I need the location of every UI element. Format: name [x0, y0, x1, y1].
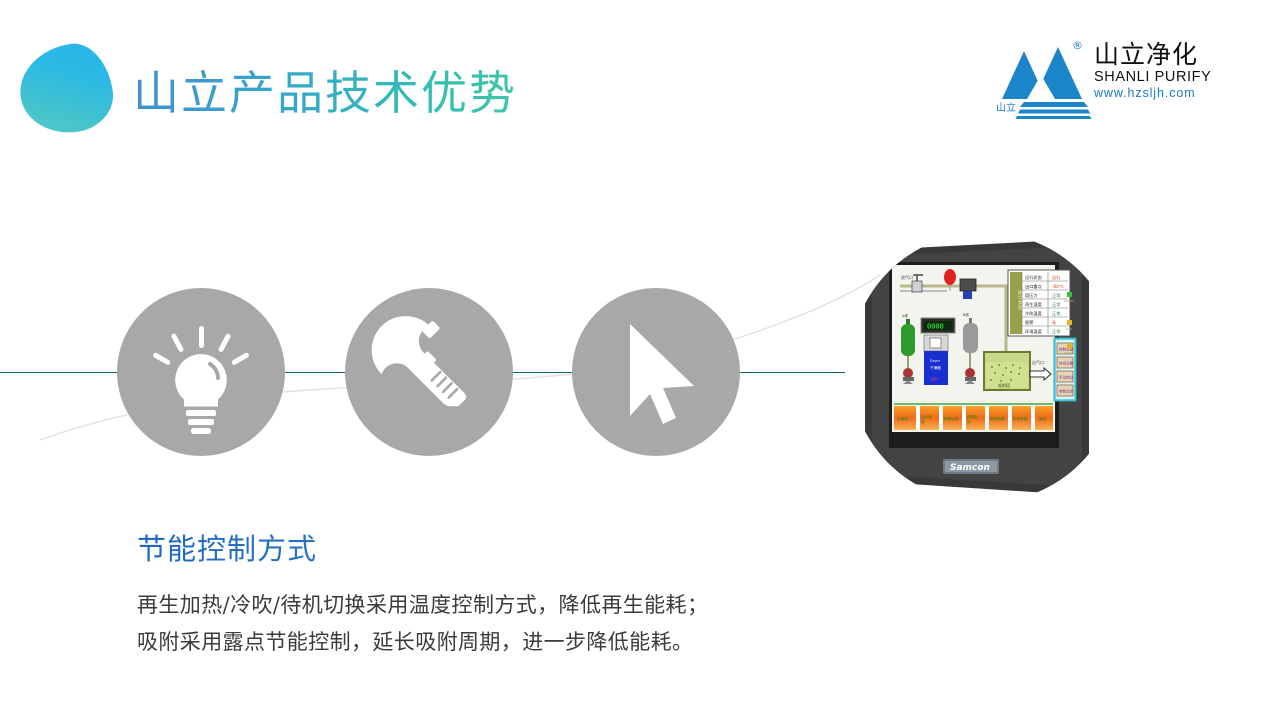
hmi-device-illustration: 进气口 运行状态 运行状态运行: [851, 234, 1119, 502]
svg-text:环境温度: 环境温度: [1025, 328, 1043, 335]
svg-text:参数设定: 参数设定: [1059, 389, 1074, 394]
section-heading: 节能控制方式: [137, 530, 937, 568]
feature-icon-cursor[interactable]: [572, 288, 740, 456]
svg-text:干燥器: 干燥器: [930, 365, 941, 370]
svg-text:进气口: 进气口: [901, 274, 913, 280]
svg-text:冷吹温度: 冷吹温度: [1025, 310, 1043, 317]
brand-website: www.hzsljh.com: [1094, 86, 1224, 101]
wrench-screwdriver-tools-icon: [345, 288, 513, 456]
svg-text:正常: 正常: [1052, 292, 1060, 299]
svg-text:手动启动: 手动启动: [1059, 375, 1074, 380]
svg-text:报警: 报警: [1025, 319, 1034, 326]
svg-text:主画面: 主画面: [897, 416, 908, 421]
feature-icon-tools[interactable]: [345, 288, 513, 456]
svg-text:趋势曲: 趋势曲: [967, 414, 978, 419]
body-line: 吸附采用露点节能控制，延长吸附周期，进一步降低能耗。: [137, 624, 937, 661]
svg-text:运行: 运行: [1052, 274, 1060, 281]
svg-text:Dryer: Dryer: [930, 359, 941, 363]
svg-text:数: 数: [921, 419, 925, 424]
hmi-control-panel-photo: 进气口 运行状态 运行状态运行: [849, 232, 1120, 503]
svg-text:吸附塔: 吸附塔: [998, 382, 1010, 388]
svg-text:出口露点: 出口露点: [1025, 283, 1042, 290]
svg-text:塔压力: 塔压力: [1025, 292, 1038, 299]
svg-text:POWER: POWER: [1064, 299, 1074, 303]
svg-text:再生温度: 再生温度: [1025, 301, 1043, 308]
brand-name-cn: 山立净化: [1094, 41, 1224, 69]
svg-text:运行状态: 运行状态: [1025, 274, 1042, 281]
svg-text:运行: 运行: [931, 376, 939, 381]
slide-header: 山立产品技术优势 ® 山立 山立净化 SHANLI PURIFY www.hzs…: [0, 0, 1280, 150]
svg-text:线: 线: [967, 419, 971, 424]
brand-name-en: SHANLI PURIFY: [1094, 69, 1224, 86]
cursor-pointer-icon: [572, 288, 740, 456]
svg-text:运行状态: 运行状态: [1017, 290, 1024, 310]
svg-text:0000: 0000: [927, 323, 944, 331]
feature-icon-lightbulb[interactable]: [117, 288, 285, 456]
logo-mark-label: 山立: [996, 99, 1016, 114]
svg-text:正常: 正常: [1052, 328, 1060, 335]
brand-logo: ® 山立 山立净化 SHANLI PURIFY www.hzsljh.com: [994, 33, 1222, 125]
svg-text:-60℃: -60℃: [1052, 284, 1064, 289]
svg-text:退出: 退出: [1039, 416, 1047, 421]
svg-text:Samcon: Samcon: [950, 463, 990, 473]
content-block: 节能控制方式 再生加热/冷吹/待机切换采用温度控制方式，降低再生能耗； 吸附采用…: [137, 530, 937, 661]
svg-text:A塔: A塔: [902, 313, 908, 318]
svg-text:B塔: B塔: [963, 312, 969, 317]
svg-text:ALARM: ALARM: [1064, 351, 1074, 355]
svg-text:运行参: 运行参: [921, 414, 932, 419]
svg-text:时间设置: 时间设置: [1059, 361, 1074, 366]
page-title: 山立产品技术优势: [133, 57, 517, 123]
svg-text:报警记录: 报警记录: [944, 416, 959, 421]
svg-text:出气口: 出气口: [1032, 359, 1044, 365]
svg-text:系统设置: 系统设置: [990, 416, 1005, 421]
registered-trademark-icon: ®: [1072, 39, 1083, 52]
svg-text:RUN: RUN: [1066, 327, 1072, 331]
decorative-blob-shape: [14, 39, 117, 139]
svg-text:正常: 正常: [1052, 301, 1060, 308]
body-line: 再生加热/冷吹/待机切换采用温度控制方式，降低再生能耗；: [137, 587, 937, 624]
lightbulb-idea-icon: [117, 288, 285, 456]
brand-text-block: 山立净化 SHANLI PURIFY www.hzsljh.com: [1094, 41, 1224, 101]
svg-text:历史数据: 历史数据: [1013, 416, 1028, 421]
svg-text:正常: 正常: [1052, 310, 1060, 317]
